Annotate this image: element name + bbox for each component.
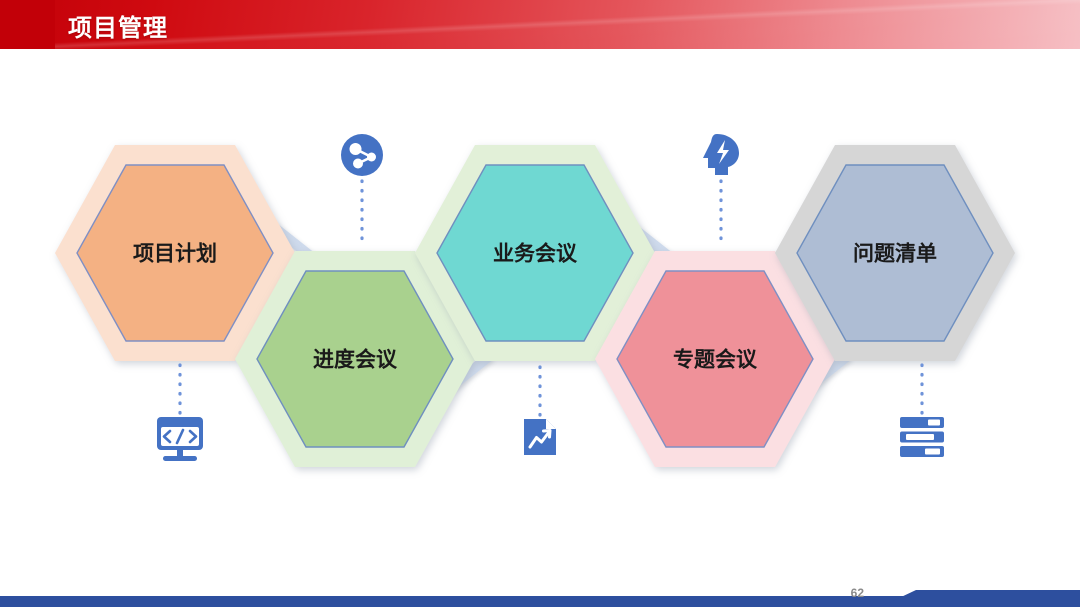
hex-label-progress: 进度会议 xyxy=(313,348,398,372)
page-number: 62 xyxy=(851,586,864,600)
slide-header: 项目管理 xyxy=(0,0,1080,49)
footer-right-wedge xyxy=(880,585,1080,607)
hex-label-topic: 专题会议 xyxy=(673,348,758,372)
hexagon-process-diagram: 项目计划 进度会议 业务会议 专题会议 xyxy=(0,49,1080,569)
hex-label-business: 业务会议 xyxy=(493,242,578,266)
code-monitor-icon[interactable] xyxy=(157,417,203,461)
report-chart-icon[interactable] xyxy=(524,419,556,455)
slide-canvas: 项目管理 xyxy=(0,0,1080,607)
page-title: 项目管理 xyxy=(68,8,168,43)
hex-label-plan: 项目计划 xyxy=(133,243,217,266)
share-network-icon[interactable] xyxy=(341,134,383,176)
server-list-icon[interactable] xyxy=(900,417,944,457)
hex-label-issues: 问题清单 xyxy=(853,242,937,266)
brain-bolt-icon[interactable] xyxy=(703,134,739,175)
header-left-accent-block xyxy=(0,0,55,49)
